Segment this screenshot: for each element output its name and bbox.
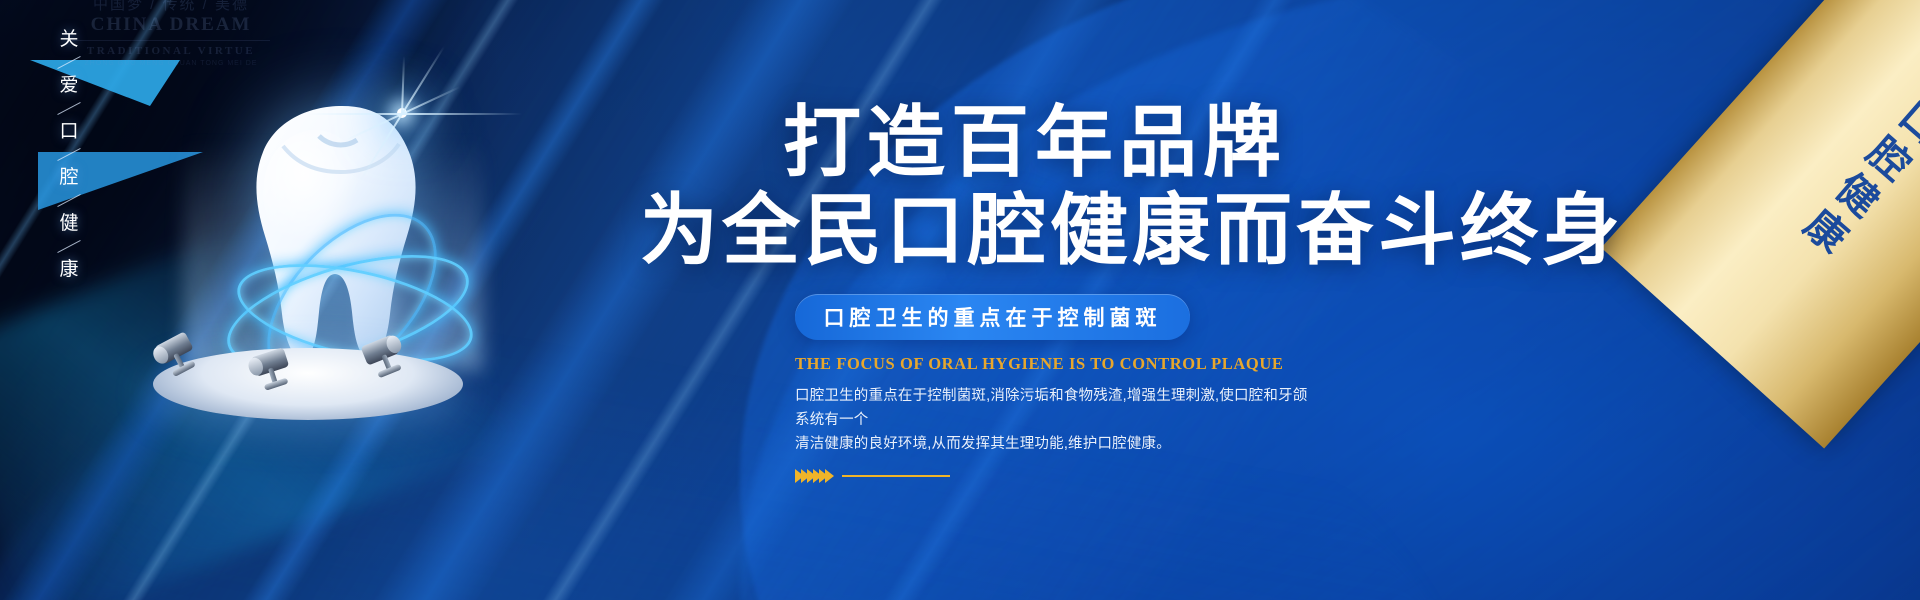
watermark-divider [72,40,270,41]
vertical-slogan: 关 爱 口 腔 健 康 [46,30,92,279]
vertical-slogan-char: 口 [59,122,78,141]
headline-line-1: 打造百年品牌 [640,96,1430,188]
gold-rule [842,475,950,477]
body-paragraph-line-2: 清洁健康的良好环境,从而发挥其生理功能,维护口腔健康。 [795,432,1315,456]
headline-line-2: 为全民口腔健康而奋斗终身 [640,184,1800,276]
slogan-separator [57,56,80,69]
slogan-separator [57,102,80,115]
body-paragraph: 口腔卫生的重点在于控制菌斑,消除污垢和食物残渣,增强生理刺激,使口腔和牙颌系统有… [795,384,1315,456]
vertical-slogan-char: 爱 [59,76,78,95]
vertical-slogan-char: 腔 [59,168,78,187]
chevron-decoration [795,469,1800,483]
body-paragraph-line-1: 口腔卫生的重点在于控制菌斑,消除污垢和食物残渣,增强生理刺激,使口腔和牙颌系统有… [795,384,1315,432]
slogan-separator [57,240,80,253]
english-eyebrow: THE FOCUS OF ORAL HYGIENE IS TO CONTROL … [795,354,1800,374]
slogan-separator [57,148,80,161]
slogan-separator [57,194,80,207]
subtitle-pill[interactable]: 口腔卫生的重点在于控制菌斑 [795,294,1190,340]
ribbon-label: 关爱口腔健康 [1784,12,1920,267]
podium [153,348,463,420]
hero-content: 打造百年品牌 为全民口腔健康而奋斗终身 口腔卫生的重点在于控制菌斑 THE FO… [640,96,1800,483]
sparkle-ray [402,113,522,115]
tooth-illustration [125,70,525,430]
vertical-slogan-char: 关 [59,30,78,49]
watermark-chinese: 中国梦 / 传统 / 美德 [56,0,286,14]
sparkle-ray [307,113,402,115]
subtitle-pill-label: 口腔卫生的重点在于控制菌斑 [824,302,1162,332]
dental-banner: 中国梦 / 传统 / 美德 CHINA DREAM TRADITIONAL VI… [0,0,1920,600]
vertical-slogan-char: 康 [59,260,78,279]
vertical-slogan-char: 健 [59,214,78,233]
chevron-right-icon [825,469,834,483]
